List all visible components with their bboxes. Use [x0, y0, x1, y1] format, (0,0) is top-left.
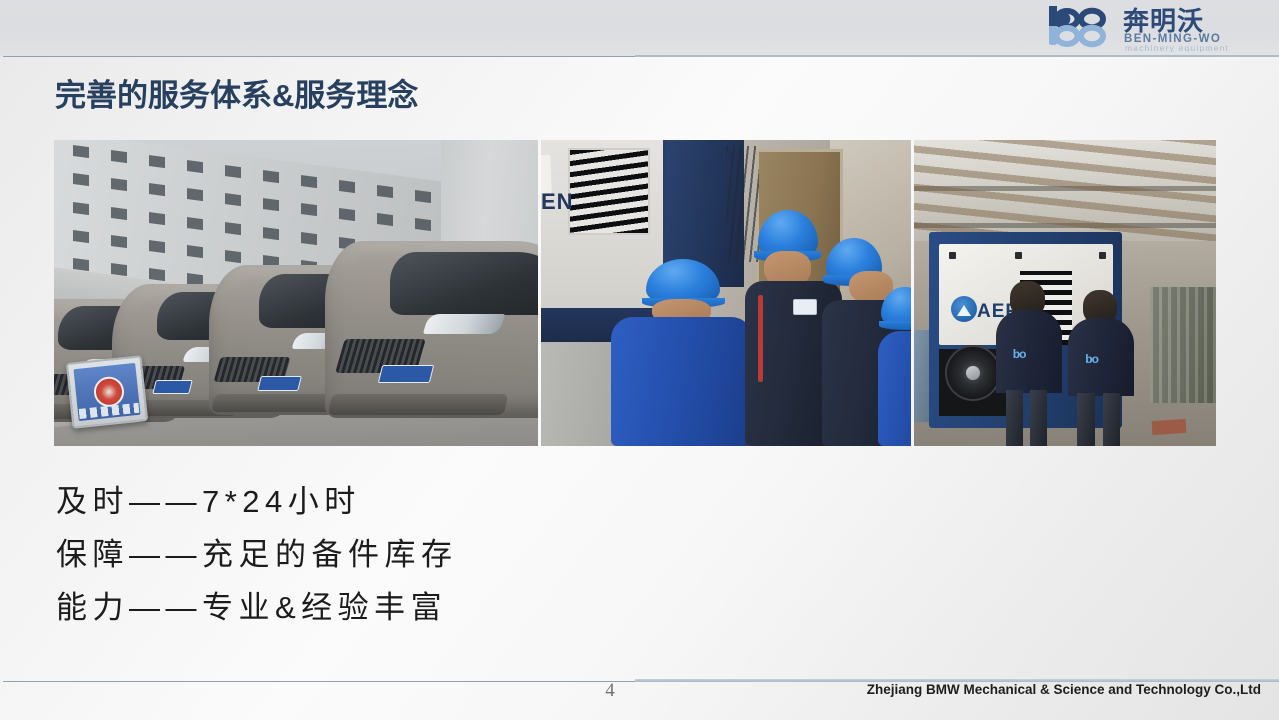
- bullet-line-1: 及时——7*24小时: [56, 475, 756, 528]
- posted-notice: [541, 155, 551, 193]
- parking-payment-kiosk: [65, 355, 147, 429]
- logo-svg: 奔明沃 BEN-MING-WO machinery equipment: [1045, 4, 1267, 52]
- bullet-line-2: 保障——充足的备件库存: [56, 528, 756, 581]
- photo-aerzen-unit-maintenance: AERZEN bo: [914, 140, 1216, 446]
- worker-back-blue: [608, 262, 756, 446]
- photo-strip: EN: [54, 140, 1216, 446]
- technician-right: bo: [1068, 290, 1134, 446]
- page-title: 完善的服务体系&服务理念: [55, 76, 418, 116]
- car-4: [325, 241, 538, 418]
- aerzen-logo-icon: [951, 296, 977, 322]
- logo-bo-mark: [1049, 6, 1103, 45]
- service-promise-list: 及时——7*24小时 保障——充足的备件库存 能力——专业&经验丰富: [56, 475, 756, 634]
- header-rule-right: [635, 55, 1279, 57]
- corrugated-roof: [914, 140, 1216, 241]
- technician-left: bo: [996, 281, 1062, 446]
- page-number: 4: [596, 680, 624, 702]
- machine-brand-text: EN: [541, 189, 574, 215]
- logo-tagline: machinery equipment: [1125, 43, 1229, 52]
- footer-company-name: Zhejiang BMW Mechanical & Science and Te…: [867, 682, 1261, 697]
- uniform-logo-right: bo: [1085, 352, 1098, 366]
- uniform-logo-left: bo: [1013, 347, 1026, 361]
- worker-far-right-blue: [881, 287, 911, 446]
- svg-text:machinery equipment: machinery equipment: [1125, 43, 1229, 52]
- bullet-line-3: 能力——专业&经验丰富: [56, 581, 756, 634]
- cooling-fan: [945, 345, 1001, 401]
- footer-rule-left: [3, 681, 635, 682]
- storage-container: [1150, 287, 1216, 403]
- brick-on-ground: [1151, 419, 1186, 435]
- header-rule-left: [3, 56, 635, 57]
- photo-fleet-of-service-vehicles: [54, 140, 538, 446]
- header-divider-rule: [0, 55, 1279, 58]
- presentation-slide: 奔明沃 BEN-MING-WO machinery equipment 完善的服…: [0, 0, 1279, 720]
- photo-engineers-servicing-blower: EN: [541, 140, 911, 446]
- company-logo: 奔明沃 BEN-MING-WO machinery equipment: [1045, 4, 1267, 52]
- louver-vent: [568, 148, 650, 235]
